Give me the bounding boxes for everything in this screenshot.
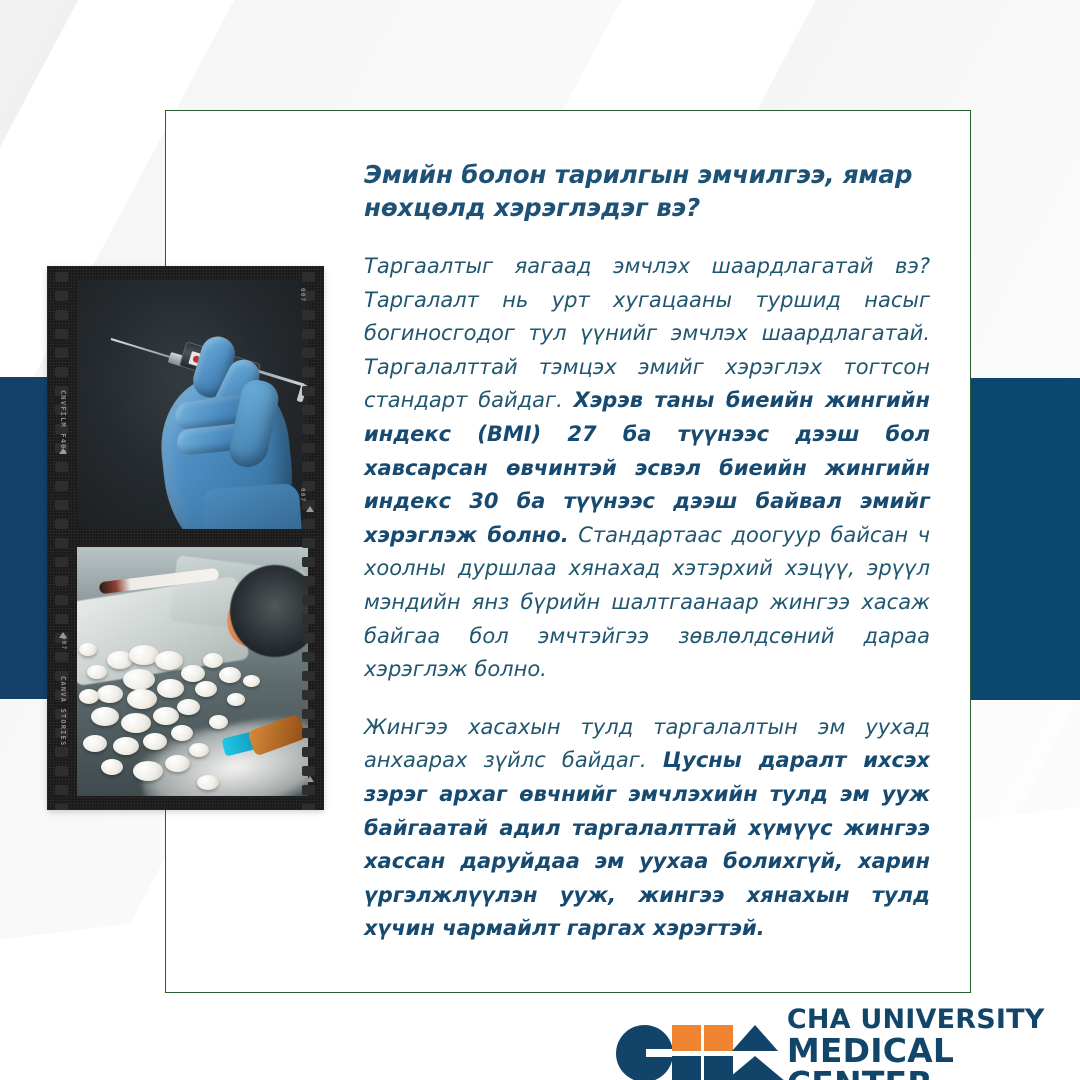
film-triangle-mark-right-1	[306, 506, 314, 512]
pill-shape	[157, 679, 184, 698]
film-sprocket-hole	[302, 652, 315, 662]
film-frame-number-mid-right: 007	[299, 488, 306, 502]
paragraph-2: Жингээ хасахын тулд таргалалтын эм уухад…	[364, 711, 930, 946]
film-sprocket-hole	[302, 747, 315, 757]
logo-wordmark: CHA UNIVERSITY MEDICAL CENTER	[787, 1006, 1080, 1080]
film-sprocket-hole	[55, 367, 68, 377]
cha-logo-mark	[616, 1023, 765, 1080]
film-sprocket-hole	[302, 329, 315, 339]
pill-shape	[153, 707, 179, 725]
film-sprocket-hole	[302, 728, 315, 738]
film-sprocket-hole	[302, 405, 315, 415]
film-sprocket-hole	[55, 614, 68, 624]
pill-shape	[171, 725, 193, 741]
film-sprocket-hole	[302, 671, 315, 681]
pill-shape	[227, 693, 245, 706]
film-sprocket-hole	[55, 329, 68, 339]
poster-canvas: CNVFILM F400 CANVA STORIES 007 007 007 Э…	[0, 0, 1080, 1080]
pill-shape	[79, 689, 99, 704]
film-sprocket-hole	[55, 785, 68, 795]
film-sprocket-hole	[302, 462, 315, 472]
film-sprocket-hole	[302, 367, 315, 377]
article-text-column: Эмийн болон тарилгын эмчилгээ, ямар нөхц…	[364, 158, 930, 946]
film-sprocket-hole	[302, 633, 315, 643]
film-sprocket-hole	[55, 500, 68, 510]
film-sprocket-hole	[302, 310, 315, 320]
pill-shape	[127, 689, 157, 709]
film-triangle-mark-left-1	[59, 448, 67, 454]
film-sprocket-hole	[302, 272, 315, 282]
photo-frame-top	[77, 280, 308, 529]
film-sprocket-hole	[302, 804, 315, 810]
film-sprocket-hole	[55, 310, 68, 320]
logo-navy-square-1	[672, 1056, 701, 1080]
pill-shape	[155, 651, 183, 670]
film-sprocket-hole	[55, 538, 68, 548]
pill-shape	[243, 675, 260, 687]
film-sprocket-hole	[302, 785, 315, 795]
pill-shape	[177, 699, 200, 715]
pill-shape	[165, 755, 190, 772]
film-sprocket-hole	[55, 291, 68, 301]
film-sprocket-hole	[55, 747, 68, 757]
film-triangle-mark-right-2	[306, 776, 314, 782]
film-sprocket-hole	[55, 272, 68, 282]
film-sprocket-hole	[302, 424, 315, 434]
navy-accent-block-right	[971, 378, 1080, 700]
film-sprocket-hole	[55, 348, 68, 358]
pill-shape	[97, 685, 123, 703]
photo-frame-bottom	[77, 547, 308, 796]
page-title: Эмийн болон тарилгын эмчилгээ, ямар нөхц…	[364, 158, 930, 224]
film-sprocket-hole	[55, 766, 68, 776]
pill-shape	[189, 743, 209, 757]
pill-shape	[91, 707, 119, 726]
needle-shape	[111, 338, 175, 359]
pill-shape	[181, 665, 205, 682]
film-sprocket-hole	[55, 462, 68, 472]
film-triangle-mark-left-2	[59, 632, 67, 638]
syringe-photo	[77, 280, 308, 529]
film-frame-number-bottom-left: 007	[60, 636, 67, 650]
film-sprocket-hole	[55, 519, 68, 529]
film-sprocket-hole	[55, 481, 68, 491]
logo-orange-square-1	[672, 1025, 701, 1051]
pill-shape	[123, 669, 155, 690]
logo-wordmark-line-2: MEDICAL CENTER	[787, 1034, 1080, 1080]
film-sprocket-hole	[302, 690, 315, 700]
film-sprocket-hole	[55, 557, 68, 567]
pill-shape	[143, 733, 167, 750]
film-sprocket-hole	[302, 348, 315, 358]
glove-wrist-shape	[203, 483, 304, 529]
film-sprockets-right	[294, 266, 324, 810]
logo-triangle-bottom	[724, 1056, 786, 1080]
film-strip: CNVFILM F400 CANVA STORIES 007 007 007	[47, 266, 324, 810]
film-sprocket-hole	[302, 614, 315, 624]
pill-shape	[133, 761, 163, 781]
pill-shape	[79, 643, 97, 656]
pill-shape	[209, 715, 228, 729]
pill-shape	[195, 681, 217, 697]
film-sprocket-hole	[302, 709, 315, 719]
film-brand-label: CANVA STORIES	[59, 676, 67, 746]
pill-shape	[219, 667, 241, 683]
pill-shape	[197, 775, 219, 790]
footer-logo: CHA UNIVERSITY MEDICAL CENTER	[616, 1006, 1080, 1080]
film-sprocket-hole	[55, 576, 68, 586]
pill-shape	[87, 665, 107, 679]
film-sprocket-hole	[302, 595, 315, 605]
film-sprocket-hole	[55, 804, 68, 810]
pill-shape	[83, 735, 107, 752]
film-sprocket-hole	[302, 443, 315, 453]
logo-orange-square-2	[704, 1025, 733, 1051]
logo-triangle-top	[732, 1025, 778, 1051]
film-sprocket-hole	[55, 595, 68, 605]
film-frame-number-top-right: 007	[299, 288, 306, 302]
pill-shape	[113, 737, 139, 755]
pills-photo	[77, 547, 308, 796]
pill-shape	[203, 653, 223, 668]
film-sprocket-hole	[302, 557, 315, 567]
film-sprocket-hole	[302, 538, 315, 548]
logo-wordmark-line-1: CHA UNIVERSITY	[787, 1006, 1080, 1034]
film-sprocket-hole	[302, 386, 315, 396]
film-sprocket-hole	[302, 576, 315, 586]
film-sprocket-hole	[55, 652, 68, 662]
paragraph-1: Таргаалтыг яагаад эмчлэх шаардлагатай вэ…	[364, 250, 930, 687]
film-sprocket-hole	[302, 519, 315, 529]
pill-shape	[121, 713, 151, 733]
pill-shape	[101, 759, 123, 775]
paragraph-2-bold-1: Цусны даралт ихсэх зэрэг архаг өвчнийг э…	[364, 748, 930, 940]
film-stock-label: CNVFILM F400	[59, 390, 67, 455]
film-sprocket-hole	[302, 766, 315, 776]
